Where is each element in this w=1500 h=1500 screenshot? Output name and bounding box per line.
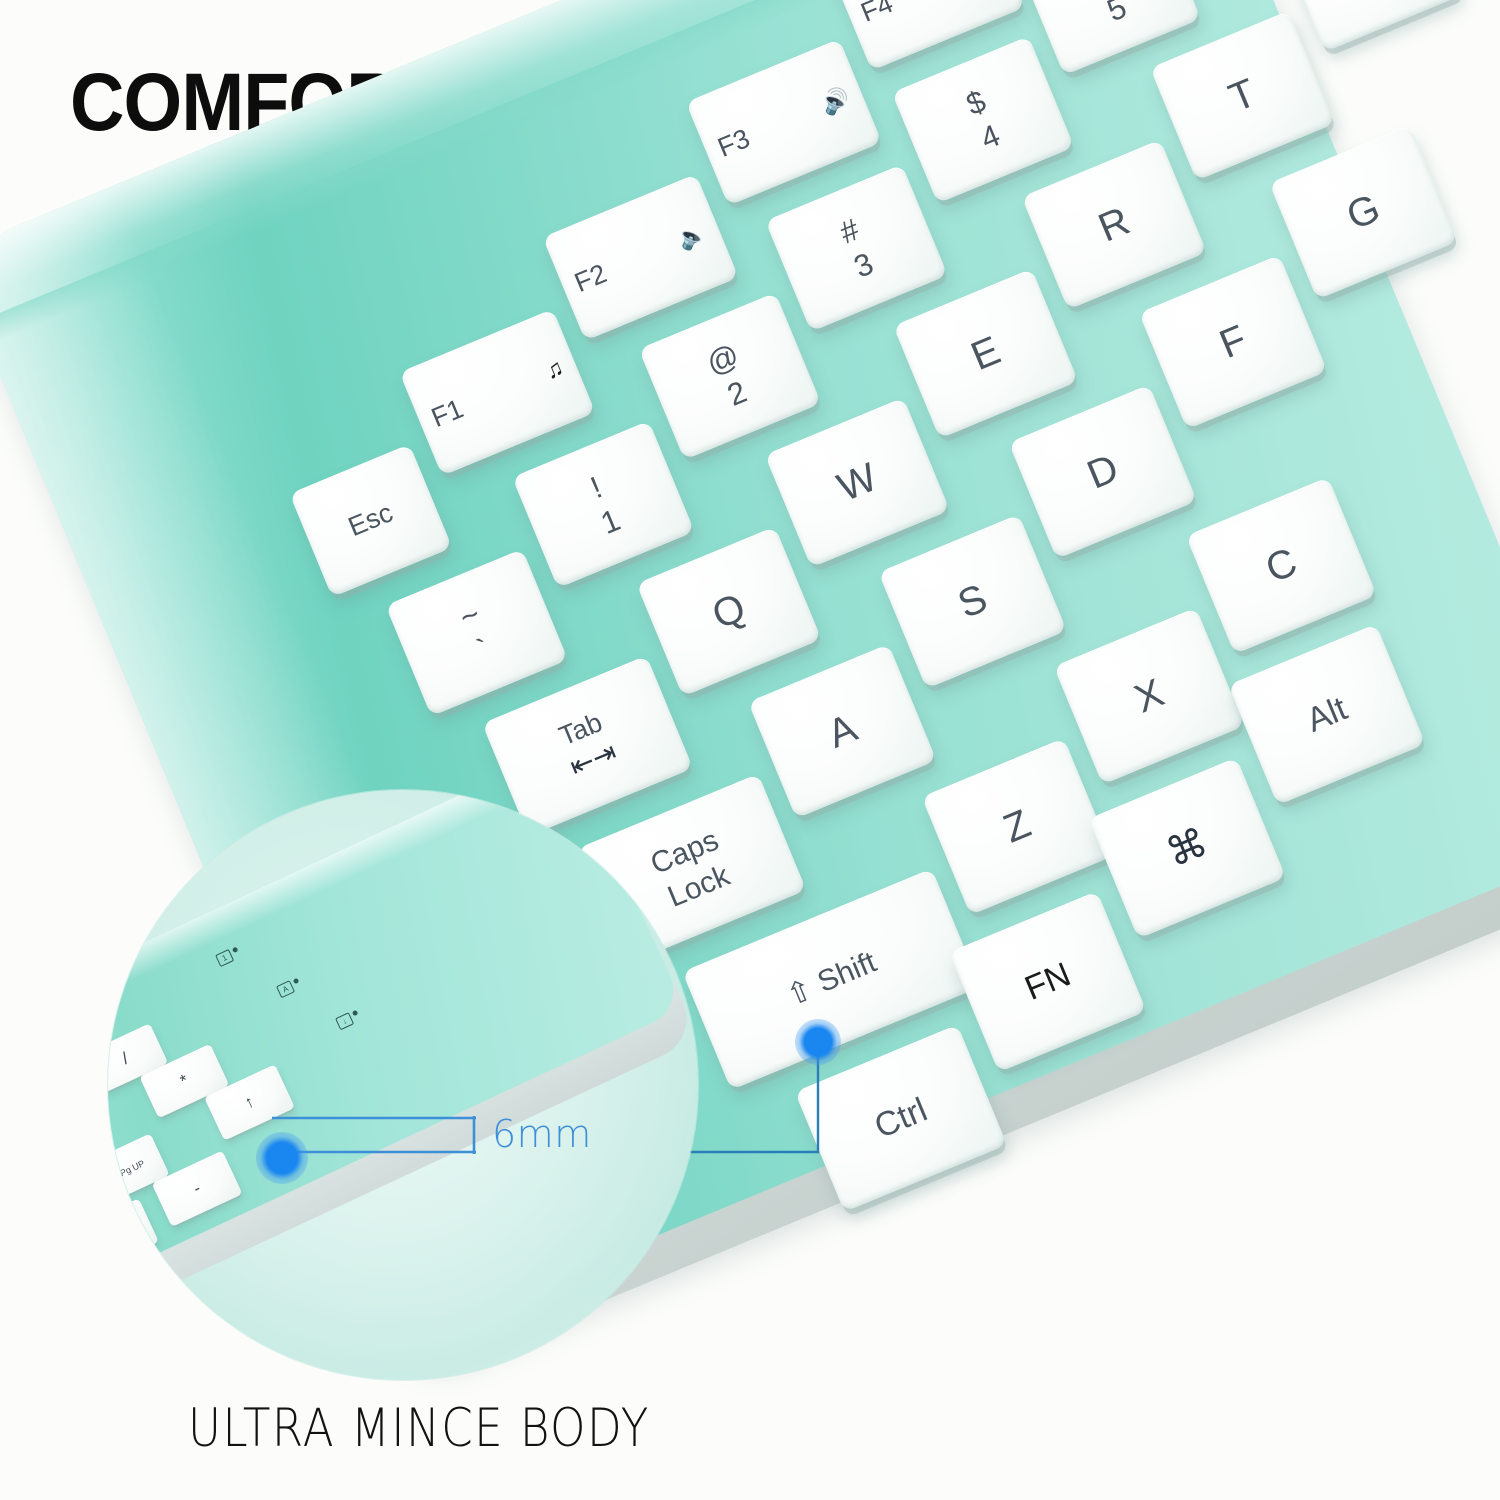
volume-down-icon: 🔈 xyxy=(674,218,711,254)
volume-up-icon: 🔊 xyxy=(817,83,854,119)
command-icon: ⌘ xyxy=(1161,822,1214,875)
key-y[interactable]: Y xyxy=(1278,0,1463,52)
feature-caption: ULTRA MINCE BODY xyxy=(188,1398,650,1460)
music-note-icon: ♫ xyxy=(541,353,567,385)
callout-marker-dot xyxy=(795,1019,841,1065)
shift-arrow-icon: ⇧ xyxy=(781,972,818,1014)
product-image-canvas: COMFORTABLE KEYS Esc F1♫ F2🔈 F3🔊 F4🔇 F5⏮… xyxy=(0,0,1500,1500)
inset-marker-dot xyxy=(256,1132,308,1184)
dimension-label: 6mm xyxy=(492,1112,592,1156)
thickness-dimension: 6mm xyxy=(260,1090,620,1210)
thinness-detail-inset: F12 NumLock 7 Home / ↑ 8 * 5 9 Pg UP ↑ →… xyxy=(108,790,698,1380)
